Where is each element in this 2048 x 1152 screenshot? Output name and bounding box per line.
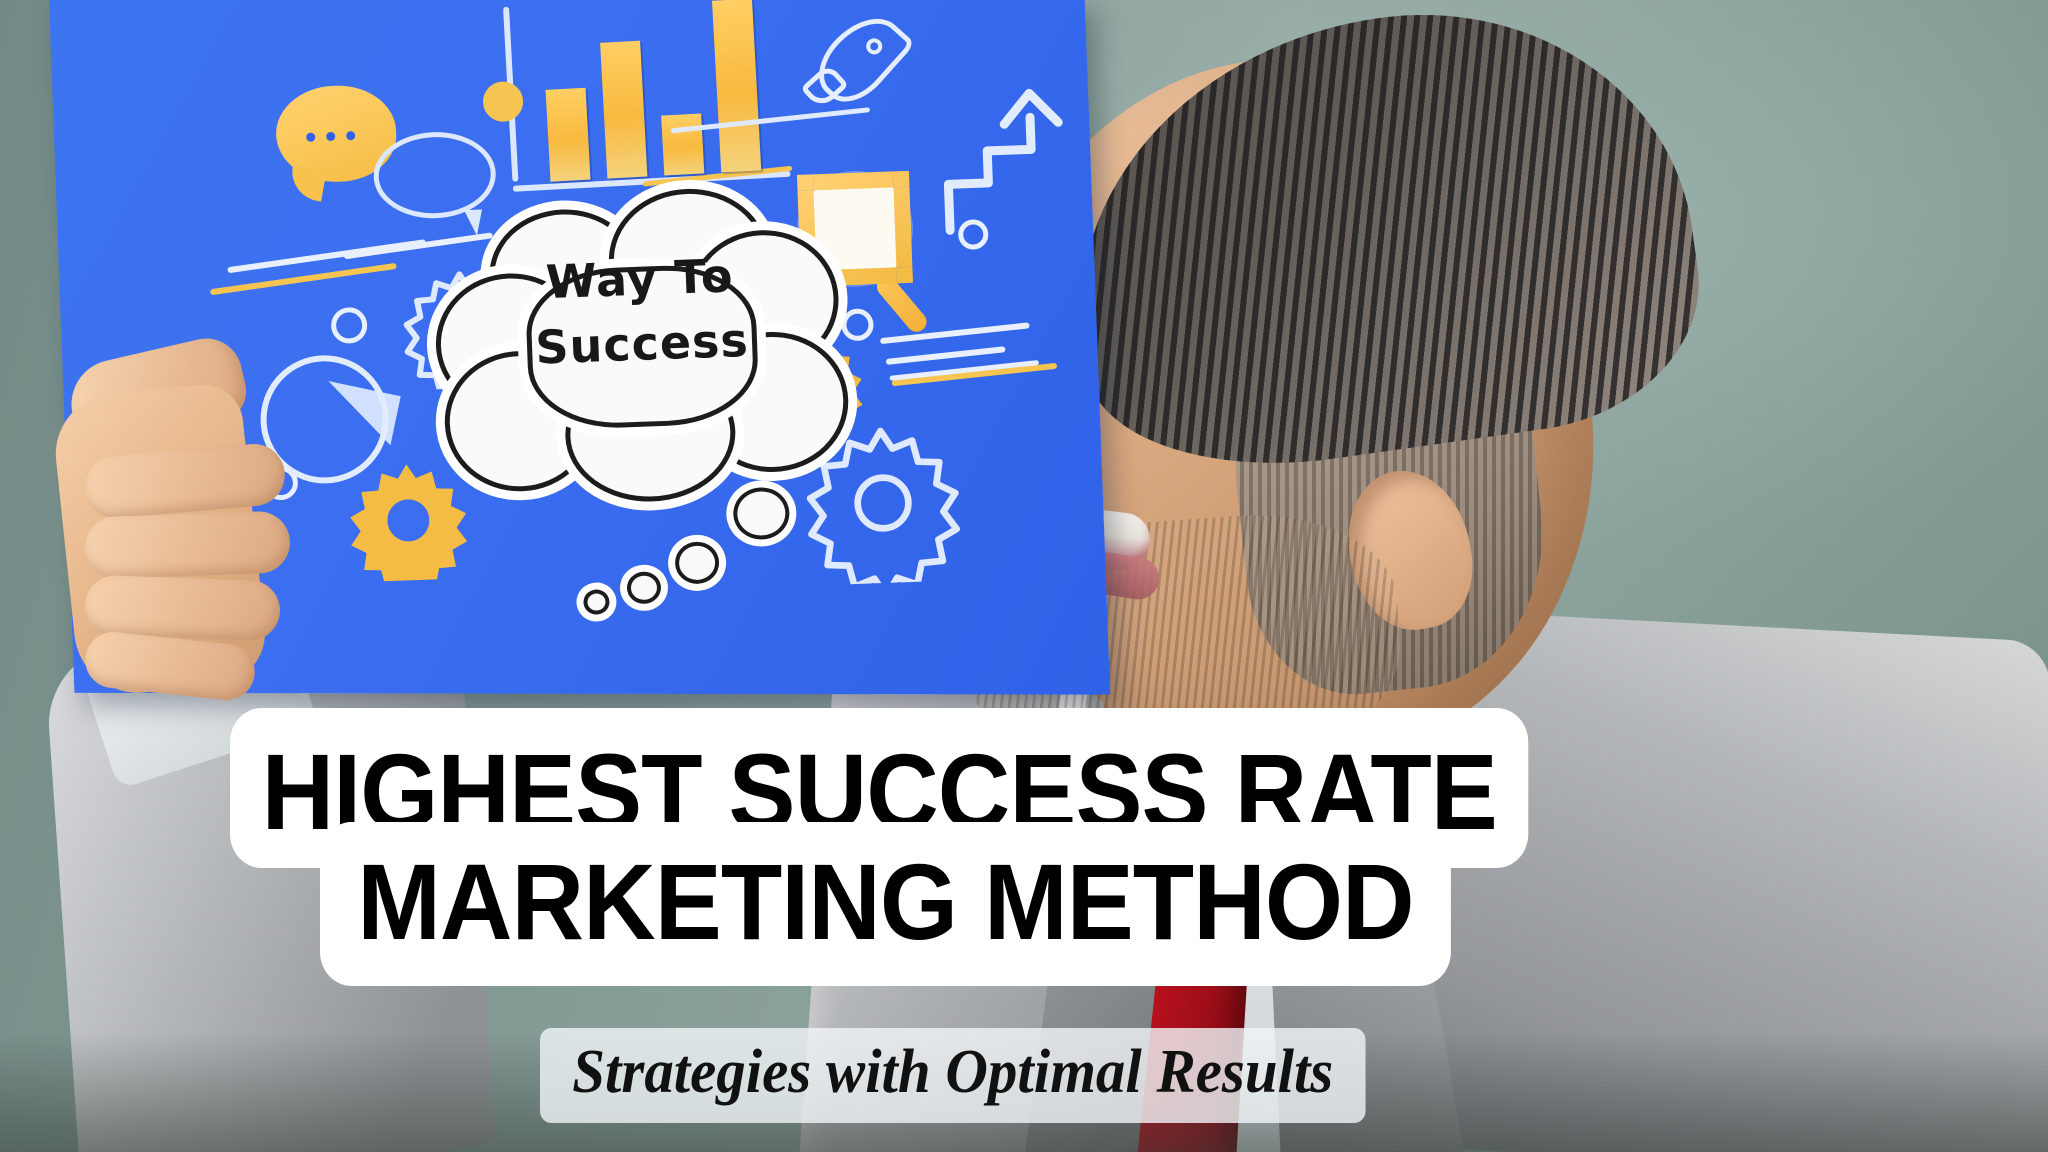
growth-arrow-icon [933,76,1079,241]
small-ring-icon [331,307,368,344]
subtitle-banner: Strategies with Optimal Results [540,1028,1366,1123]
pie-slice [318,381,401,445]
thought-tail-bubble [732,486,790,540]
headline-line-2: MARKETING METHOD [320,822,1451,986]
rocket-icon [786,0,938,144]
chart-bar [712,0,761,172]
chart-bar [546,88,591,182]
chart-bar [600,41,647,179]
thought-tail-bubble [583,589,610,615]
bar-chart-icon [503,0,793,192]
finger [84,510,291,579]
ellipsis-dots-icon [306,131,355,142]
chart-bar [661,113,704,175]
hand-holding-poster [30,300,280,700]
decor-line [886,346,1006,365]
thought-tail-bubble [674,541,720,585]
magnifier-handle [873,272,931,335]
thought-cloud-icon: Way To Success [427,189,858,504]
poster-canvas: Way To Success HIGHEST SUCCESS RATE MARK… [0,0,2048,1152]
cloud-text: Way To Success [429,239,854,385]
thought-tail-bubble [626,571,661,604]
decor-line [227,239,426,273]
hair [1043,0,1717,491]
